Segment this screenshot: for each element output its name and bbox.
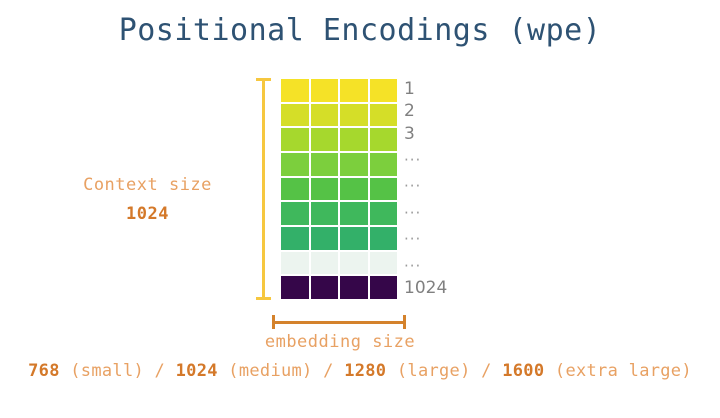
matrix-cell	[369, 103, 399, 128]
matrix-row	[280, 103, 398, 128]
matrix-row	[280, 152, 398, 177]
matrix-cell	[339, 251, 369, 276]
matrix-cell	[310, 201, 340, 226]
matrix-row	[280, 177, 398, 202]
matrix-row-label: ···	[404, 198, 474, 224]
matrix-cell	[280, 251, 310, 276]
matrix-cell	[369, 226, 399, 251]
matrix-cell	[339, 103, 369, 128]
size-separator: /	[144, 361, 176, 381]
size-number: 768	[28, 361, 60, 381]
size-number: 1600	[502, 361, 544, 381]
size-number: 1280	[344, 361, 386, 381]
bracket-line-horizontal	[272, 321, 406, 324]
matrix-cell	[280, 127, 310, 152]
positional-encoding-matrix	[280, 78, 398, 300]
matrix-row-label: ···	[404, 251, 474, 277]
size-name: (large)	[386, 361, 470, 381]
context-size-caption: Context size 1024	[50, 175, 245, 224]
context-size-label: Context size	[50, 175, 245, 195]
size-separator: /	[313, 361, 345, 381]
bracket-cap-right	[403, 315, 406, 329]
context-size-bracket	[254, 78, 272, 300]
matrix-cell	[339, 127, 369, 152]
matrix-row-label: ···	[404, 172, 474, 198]
matrix-cell	[280, 177, 310, 202]
matrix-cell	[339, 152, 369, 177]
size-name: (medium)	[218, 361, 313, 381]
size-name: (extra large)	[544, 361, 692, 381]
matrix-cell	[280, 226, 310, 251]
matrix-cell	[310, 251, 340, 276]
matrix-cell	[310, 78, 340, 103]
size-number: 1024	[176, 361, 218, 381]
matrix-cell	[369, 127, 399, 152]
matrix-cell	[369, 78, 399, 103]
matrix-cell	[339, 275, 369, 300]
slide-canvas: Positional Encodings (wpe) Context size …	[0, 0, 720, 418]
matrix-cell	[369, 275, 399, 300]
matrix-row	[280, 78, 398, 103]
matrix-cell	[310, 226, 340, 251]
matrix-row-label: ···	[404, 225, 474, 251]
matrix-row	[280, 127, 398, 152]
matrix-row-label: 3	[404, 123, 474, 145]
matrix-row	[280, 226, 398, 251]
matrix-cell	[280, 103, 310, 128]
matrix-cell	[369, 251, 399, 276]
bracket-line-vertical	[262, 78, 265, 300]
matrix-cell	[369, 177, 399, 202]
matrix-cell	[339, 201, 369, 226]
matrix-row-labels: 123···············1024	[404, 78, 474, 300]
matrix-cell	[280, 275, 310, 300]
matrix-cell	[310, 127, 340, 152]
matrix-cell	[339, 226, 369, 251]
matrix-row	[280, 275, 398, 300]
context-size-value: 1024	[50, 204, 245, 224]
matrix-cell	[310, 103, 340, 128]
matrix-cell	[339, 177, 369, 202]
matrix-cell	[280, 78, 310, 103]
matrix-cell	[280, 201, 310, 226]
matrix-cell	[339, 78, 369, 103]
matrix-row-label: 1	[404, 78, 474, 100]
matrix-cell	[310, 177, 340, 202]
matrix-cell	[369, 152, 399, 177]
matrix-cell	[369, 201, 399, 226]
matrix-row-label: 1024	[404, 278, 474, 300]
size-name: (small)	[60, 361, 144, 381]
matrix-row	[280, 251, 398, 276]
bracket-cap-bottom	[256, 297, 271, 300]
matrix-cell	[280, 152, 310, 177]
page-title: Positional Encodings (wpe)	[0, 13, 720, 48]
model-size-options: 768 (small) / 1024 (medium) / 1280 (larg…	[0, 361, 720, 381]
matrix-cell	[310, 152, 340, 177]
matrix-row-label: ···	[404, 145, 474, 171]
matrix-row-label: 2	[404, 100, 474, 122]
embedding-size-label: embedding size	[220, 332, 460, 352]
matrix-cell	[310, 275, 340, 300]
matrix-row	[280, 201, 398, 226]
size-separator: /	[471, 361, 503, 381]
embedding-size-bracket	[272, 315, 406, 329]
